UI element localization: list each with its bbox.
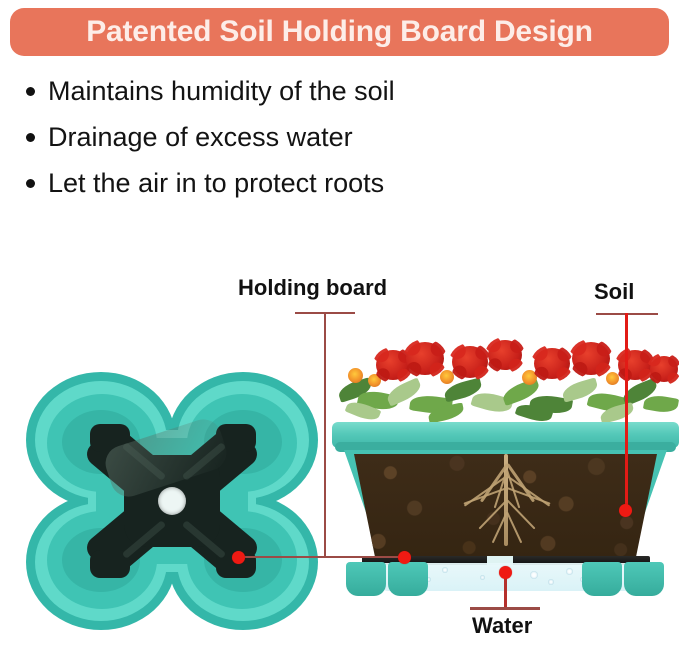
callout-label-holding-board: Holding board [238, 277, 387, 299]
planter-top-view [22, 370, 322, 632]
callout-dot-water [499, 566, 512, 579]
product-diagram: Holding board Soil Water [0, 0, 679, 646]
callout-dot-soil [619, 504, 632, 517]
callout-line-soil [625, 313, 628, 511]
soil-layer [354, 454, 657, 558]
drainage-hole [158, 487, 186, 515]
planter-foot [346, 562, 386, 596]
callout-line-holding-board-horizontal [238, 556, 406, 558]
callout-label-water: Water [472, 615, 532, 637]
callout-tbar-water [470, 607, 540, 610]
infographic-page: Patented Soil Holding Board Design Maint… [0, 0, 679, 646]
planter-foot [388, 562, 428, 596]
planter-foot [624, 562, 664, 596]
callout-dot-holding-board-right [398, 551, 411, 564]
planter-foot [582, 562, 622, 596]
callout-line-holding-board [324, 312, 326, 558]
callout-label-soil: Soil [594, 281, 634, 303]
callout-dot-holding-board-left [232, 551, 245, 564]
